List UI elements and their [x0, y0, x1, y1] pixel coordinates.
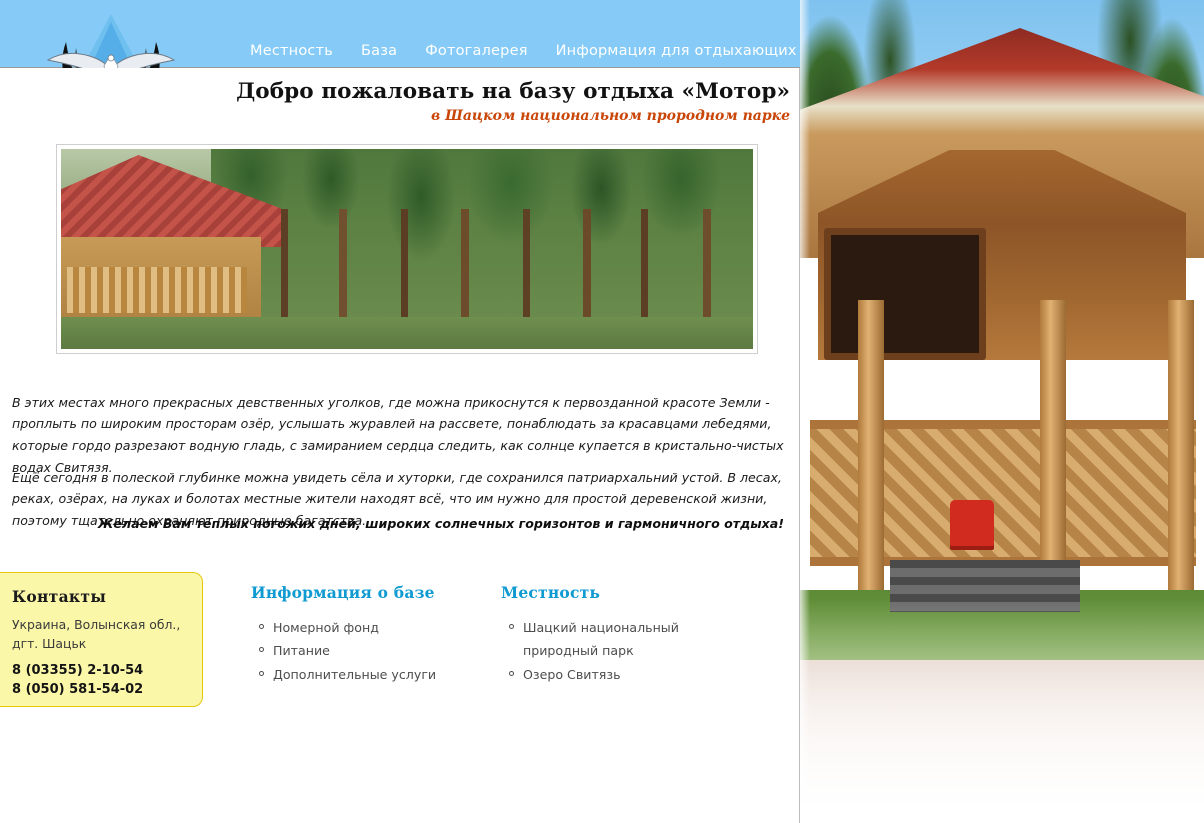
hero-cabin-post	[1040, 300, 1066, 600]
link-label[interactable]: Номерной фонд	[273, 620, 379, 635]
nav-item-mestnost[interactable]: Местность	[250, 43, 333, 59]
page-subtitle: в Шацком национальном прородном парке	[0, 108, 790, 124]
wish-text: Желаем Вам тёплых погожих дней, широких …	[12, 516, 784, 531]
nav-item-baza[interactable]: База	[361, 43, 397, 59]
hero-bottom-fade	[800, 600, 1204, 823]
contacts-box: Контакты Украина, Волынская обл., дгт. Ш…	[0, 572, 203, 707]
contacts-address-line2: дгт. Шацьк	[12, 635, 186, 654]
column-heading-base-info: Информация о базе	[251, 583, 481, 602]
intro-paragraph-1: В этих местах много прекрасных девственн…	[12, 392, 784, 479]
nav-item-fotogalereya[interactable]: Фотогалерея	[425, 43, 527, 59]
page-title: Добро пожаловать на базу отдыха «Мотор»	[0, 80, 790, 105]
contacts-heading: Контакты	[12, 587, 186, 606]
contacts-phone-2: 8 (050) 581-54-02	[12, 681, 186, 700]
link-label[interactable]: Шацкий национальный природный парк	[523, 620, 679, 658]
contacts-phone-1: 8 (03355) 2-10-54	[12, 662, 186, 681]
list-item[interactable]: Шацкий национальный природный парк	[523, 616, 731, 663]
link-list-base-info: Номерной фонд Питание Дополнительные усл…	[251, 616, 481, 686]
list-item[interactable]: Номерной фонд	[273, 616, 481, 639]
hero-left-fade	[800, 0, 810, 823]
page-title-block: Добро пожаловать на базу отдыха «Мотор» …	[0, 80, 790, 124]
photo-cabin-railing	[67, 267, 247, 313]
link-label[interactable]: Дополнительные услуги	[273, 667, 436, 682]
link-label[interactable]: Питание	[273, 643, 330, 658]
hero-cabin-post	[1168, 300, 1194, 600]
content-column: Добро пожаловать на базу отдыха «Мотор» …	[0, 68, 800, 823]
hero-cabin-post	[858, 300, 884, 600]
list-item[interactable]: Озеро Свитязь	[523, 663, 731, 686]
list-item[interactable]: Питание	[273, 639, 481, 662]
column-heading-locality: Местность	[501, 583, 731, 602]
links-column-base-info: Информация о базе Номерной фонд Питание …	[251, 583, 481, 686]
featured-photo	[61, 149, 753, 349]
link-label[interactable]: Озеро Свитязь	[523, 667, 621, 682]
link-list-locality: Шацкий национальный природный парк Озеро…	[501, 616, 731, 686]
links-column-locality: Местность Шацкий национальный природный …	[501, 583, 731, 686]
nav-item-informaciya[interactable]: Информация для отдыхающих	[556, 43, 797, 59]
contacts-address-line1: Украина, Волынская обл.,	[12, 616, 186, 635]
featured-photo-frame	[56, 144, 758, 354]
hero-cabin-window	[824, 228, 986, 360]
list-item[interactable]: Дополнительные услуги	[273, 663, 481, 686]
hero-photo	[800, 0, 1204, 823]
hero-red-chair	[950, 500, 994, 546]
photo-ground	[61, 317, 753, 349]
main-navigation: Местность База Фотогалерея Информация дл…	[250, 43, 797, 59]
contacts-address: Украина, Волынская обл., дгт. Шацьк	[12, 616, 186, 653]
